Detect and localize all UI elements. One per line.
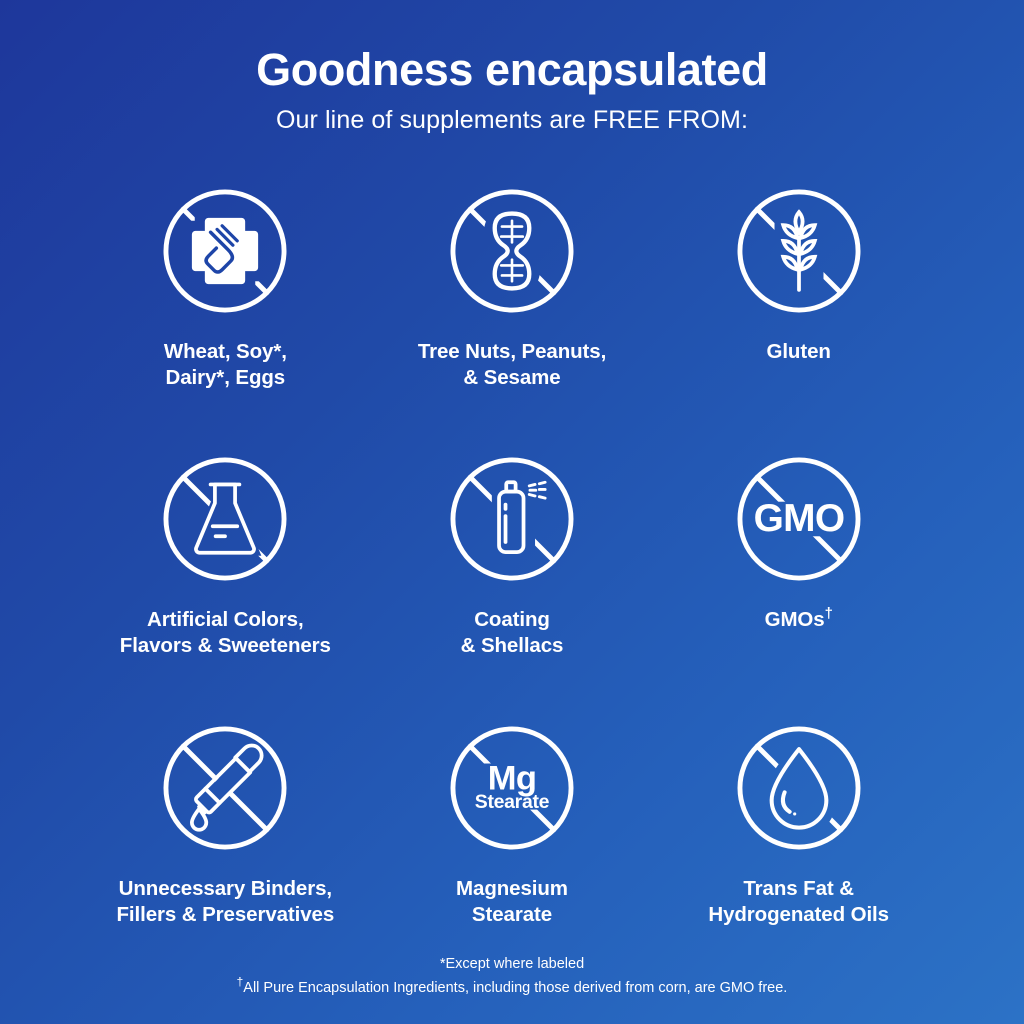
footnote-asterisk: *Except where labeled [0, 953, 1024, 976]
grid-item-label: Wheat, Soy*, Dairy*, Eggs [164, 339, 287, 391]
grid-item-label: Unnecessary Binders, Fillers & Preservat… [117, 876, 335, 928]
grid-item-gluten: Gluten [655, 179, 942, 391]
no-flask-icon [153, 447, 297, 591]
header: Goodness encapsulated Our line of supple… [256, 46, 768, 135]
no-magnesium-stearate-icon: Mg Stearate [440, 716, 584, 860]
page-title: Goodness encapsulated [256, 46, 768, 94]
grid-item-wheat-soy-dairy-eggs: Wheat, Soy*, Dairy*, Eggs [82, 179, 369, 391]
grid-item-label: GMOs† [765, 607, 833, 633]
footnotes: *Except where labeled †All Pure Encapsul… [0, 953, 1024, 1000]
no-spray-can-icon [440, 447, 584, 591]
grid-item-tree-nuts-peanuts-sesame: Tree Nuts, Peanuts, & Sesame [369, 179, 656, 391]
grid-item-label: Coating & Shellacs [461, 607, 564, 659]
page-subtitle: Our line of supplements are FREE FROM: [256, 106, 768, 135]
grid-item-trans-fat: Trans Fat & Hydrogenated Oils [655, 716, 942, 928]
grid-item-label: Magnesium Stearate [456, 876, 568, 928]
no-wheat-stalk-icon [727, 179, 871, 323]
infographic-page: Goodness encapsulated Our line of supple… [0, 0, 1024, 1024]
grid-item-unnecessary-binders: Unnecessary Binders, Fillers & Preservat… [82, 716, 369, 928]
dagger-marker: † [825, 606, 833, 622]
no-peanut-icon [440, 179, 584, 323]
grid-item-artificial-colors: Artificial Colors, Flavors & Sweeteners [82, 447, 369, 659]
no-dropper-icon [153, 716, 297, 860]
grid-item-label: Trans Fat & Hydrogenated Oils [708, 876, 889, 928]
footnote-dagger: †All Pure Encapsulation Ingredients, inc… [0, 977, 1024, 1000]
grid-item-magnesium-stearate: Mg Stearate Magnesium Stearate [369, 716, 656, 928]
no-water-drop-icon [727, 716, 871, 860]
no-gmo-icon: GMO [727, 447, 871, 591]
footnote-dagger-text: All Pure Encapsulation Ingredients, incl… [243, 980, 787, 996]
grid-item-label-text: GMOs [765, 608, 825, 631]
grid-item-label: Tree Nuts, Peanuts, & Sesame [418, 339, 606, 391]
grid-item-coating-shellacs: Coating & Shellacs [369, 447, 656, 659]
grid-item-label: Artificial Colors, Flavors & Sweeteners [120, 607, 331, 659]
grid-item-label: Gluten [766, 339, 830, 365]
stearate-icon-text: Stearate [475, 791, 550, 813]
no-allergen-cross-fork-icon [153, 179, 297, 323]
grid-item-gmos: GMO GMOs† [655, 447, 942, 659]
free-from-grid: Wheat, Soy*, Dairy*, Eggs [82, 179, 942, 928]
gmo-icon-text: GMO [753, 497, 844, 540]
